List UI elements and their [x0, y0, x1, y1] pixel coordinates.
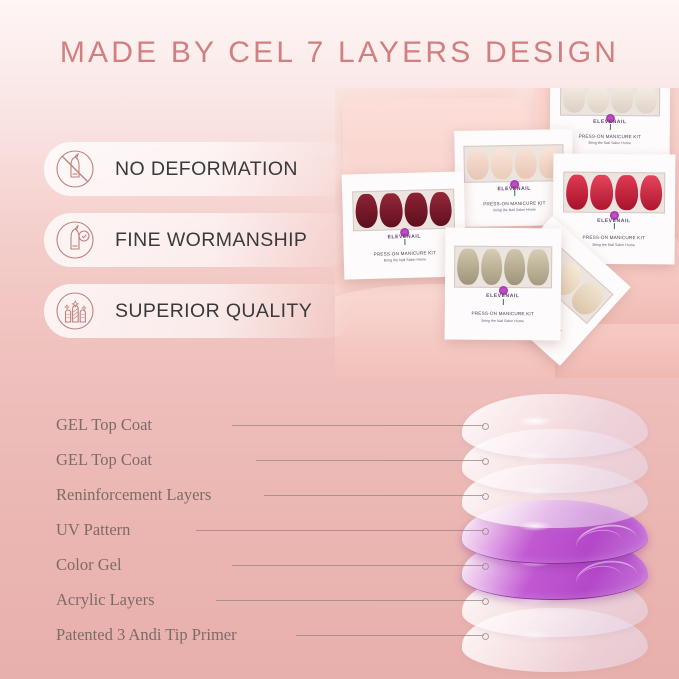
- leader-line: [216, 600, 484, 601]
- layer-row: Color Gel: [0, 548, 679, 582]
- product-photo: ELEVENAIL PRESS-ON MANICURE KIT Bring th…: [335, 88, 679, 378]
- nail-window: [563, 171, 666, 214]
- layer-label: Patented 3 Andi Tip Primer: [56, 625, 237, 645]
- layer-label: GEL Top Coat: [56, 415, 152, 435]
- layer-label: Acrylic Layers: [56, 590, 155, 610]
- leader-line: [232, 425, 484, 426]
- brand-stem-icon: [503, 299, 504, 305]
- nail-window: [352, 188, 455, 231]
- box-line-1: PRESS-ON MANICURE KIT: [445, 310, 561, 316]
- feature-badge-no-deformation[interactable]: NO DEFORMATION: [44, 142, 354, 196]
- nail-window: [464, 144, 564, 182]
- layer-diagram: GEL Top Coat GEL Top Coat Reninforcement…: [0, 396, 679, 679]
- brand-name: ELEVENAIL: [550, 119, 670, 126]
- nail-check-icon: [52, 217, 98, 263]
- brand-stem-icon: [614, 223, 615, 229]
- layer-label: UV Pattern: [56, 520, 130, 540]
- layer-row: GEL Top Coat: [0, 443, 679, 477]
- page-title: MADE BY CEL 7 LAYERS DESIGN: [0, 36, 679, 70]
- leader-line: [256, 460, 484, 461]
- brand-stem-icon: [404, 239, 405, 245]
- layer-label: GEL Top Coat: [56, 450, 152, 470]
- feature-label: NO DEFORMATION: [115, 158, 298, 181]
- feature-badge-fine-wormanship[interactable]: FINE WORMANSHIP: [44, 213, 354, 267]
- box-line-2: Bring the Nail Salon Home: [445, 318, 561, 323]
- feature-label: FINE WORMANSHIP: [115, 229, 307, 252]
- no-deformation-nail-icon: [52, 146, 98, 192]
- layer-label: Reninforcement Layers: [56, 485, 211, 505]
- leader-line: [232, 565, 484, 566]
- layer-row: UV Pattern: [0, 513, 679, 547]
- brand-name: ELEVENAIL: [445, 292, 561, 299]
- brand-name: ELEVENAIL: [553, 217, 675, 224]
- leader-line: [296, 635, 484, 636]
- nail-window: [454, 245, 552, 288]
- layer-label: Color Gel: [56, 555, 122, 575]
- layer-row: Patented 3 Andi Tip Primer: [0, 618, 679, 652]
- feature-label: SUPERIOR QUALITY: [115, 300, 312, 323]
- nail-window: [560, 88, 661, 116]
- sparkle-nails-icon: [52, 288, 98, 334]
- leader-line: [196, 530, 484, 531]
- feature-badge-superior-quality[interactable]: SUPERIOR QUALITY: [44, 284, 354, 338]
- layer-row: GEL Top Coat: [0, 408, 679, 442]
- layer-row: Reninforcement Layers: [0, 478, 679, 512]
- layer-row: Acrylic Layers: [0, 583, 679, 617]
- product-box: ELEVENAIL PRESS-ON MANICURE KIT Bring th…: [445, 227, 562, 340]
- leader-line: [264, 495, 484, 496]
